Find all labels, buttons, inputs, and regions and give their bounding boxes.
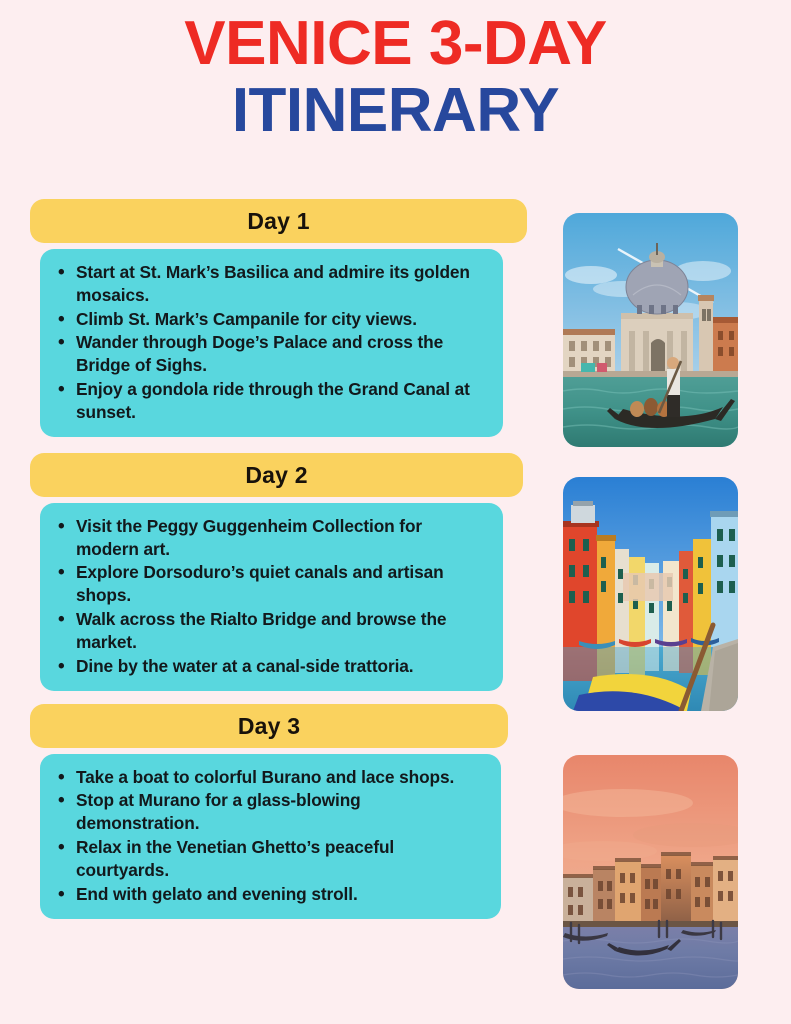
list-item: Wander through Doge’s Palace and cross t… bbox=[76, 331, 489, 377]
list-item: Relax in the Venetian Ghetto’s peaceful … bbox=[76, 836, 487, 882]
gondola-grand-canal-basilica-photo bbox=[563, 213, 738, 447]
grand-canal-sunset-photo bbox=[563, 755, 738, 989]
list-item: Stop at Murano for a glass-blowing demon… bbox=[76, 789, 487, 835]
day-3-section: Day 3 Take a boat to colorful Burano and… bbox=[0, 704, 540, 919]
day-2-header: Day 2 bbox=[30, 453, 523, 497]
day-2-section: Day 2 Visit the Peggy Guggenheim Collect… bbox=[0, 453, 540, 691]
list-item: Explore Dorsoduro’s quiet canals and art… bbox=[76, 561, 489, 607]
title-line-itinerary: ITINERARY bbox=[0, 81, 791, 142]
list-item: End with gelato and evening stroll. bbox=[76, 883, 487, 906]
list-item: Enjoy a gondola ride through the Grand C… bbox=[76, 378, 489, 424]
list-item: Walk across the Rialto Bridge and browse… bbox=[76, 608, 489, 654]
page-title: VENICE 3-DAY ITINERARY bbox=[0, 14, 791, 142]
title-line-venice-3-day: VENICE 3-DAY bbox=[0, 14, 791, 75]
day-1-header: Day 1 bbox=[30, 199, 527, 243]
day-1-section: Day 1 Start at St. Mark’s Basilica and a… bbox=[0, 199, 540, 437]
day-1-activity-list: Start at St. Mark’s Basilica and admire … bbox=[40, 249, 503, 437]
day-3-header: Day 3 bbox=[30, 704, 508, 748]
day-2-activity-list: Visit the Peggy Guggenheim Collection fo… bbox=[40, 503, 503, 691]
burano-colorful-houses-canal-photo bbox=[563, 477, 738, 711]
day-3-activity-list: Take a boat to colorful Burano and lace … bbox=[40, 754, 501, 919]
itinerary-days-column: Day 1 Start at St. Mark’s Basilica and a… bbox=[0, 199, 540, 919]
list-item: Visit the Peggy Guggenheim Collection fo… bbox=[76, 515, 489, 561]
list-item: Climb St. Mark’s Campanile for city view… bbox=[76, 308, 489, 331]
list-item: Start at St. Mark’s Basilica and admire … bbox=[76, 261, 489, 307]
list-item: Dine by the water at a canal-side tratto… bbox=[76, 655, 489, 678]
list-item: Take a boat to colorful Burano and lace … bbox=[76, 766, 487, 789]
